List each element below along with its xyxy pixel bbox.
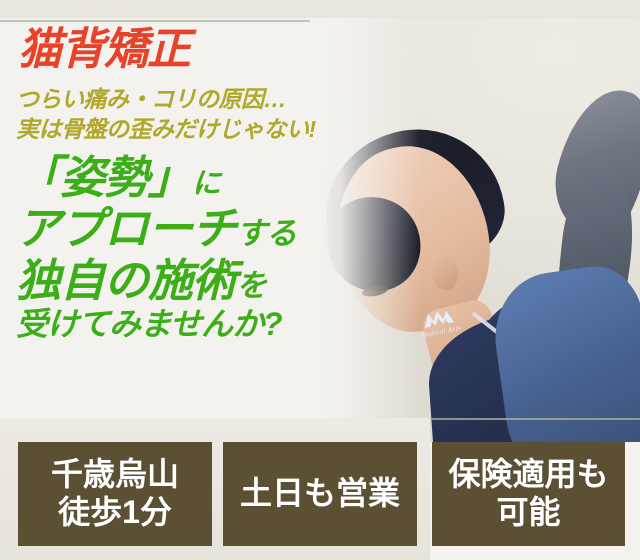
sub-copy: つらい痛み・コリの原因… 実は骨盤の歪みだけじゃない! [16, 84, 316, 145]
badge-insurance[interactable]: 保険適用も 可能 [432, 442, 625, 546]
headline-red: 猫背矯正 [18, 28, 190, 72]
green-line-3: 独自の施術を [16, 257, 396, 304]
promo-banner: Medical Arts 猫背矯正 つらい痛み・コリの原因… 実は骨盤の歪みだけ… [0, 0, 640, 560]
copy-block: 猫背矯正 つらい痛み・コリの原因… 実は骨盤の歪みだけじゃない! 「姿勢」に ア… [0, 18, 400, 418]
green-line-2: アプローチする [16, 205, 396, 252]
green-line-3-tail: を [236, 268, 266, 303]
top-band [0, 0, 640, 18]
headline-green: 「姿勢」に アプローチする 独自の施術を 受けてみませんか? [16, 154, 396, 345]
green-line-1: 「姿勢」に [16, 154, 396, 201]
green-line-4: 受けてみませんか? [16, 308, 396, 342]
green-line-1-tail: に [192, 168, 220, 200]
green-line-1-main: 「姿勢」 [16, 152, 192, 203]
badge-strip: 千歳烏山 徒歩1分 土日も営業 保険適用も 可能 [0, 418, 640, 560]
green-line-3-main: 独自の施術 [16, 255, 236, 306]
green-line-2-main: アプローチ [16, 203, 236, 254]
patient-denim [487, 261, 640, 442]
badge-weekend-open[interactable]: 土日も営業 [223, 442, 417, 546]
green-line-2-tail: する [236, 216, 296, 251]
badge-access[interactable]: 千歳烏山 徒歩1分 [18, 442, 212, 546]
